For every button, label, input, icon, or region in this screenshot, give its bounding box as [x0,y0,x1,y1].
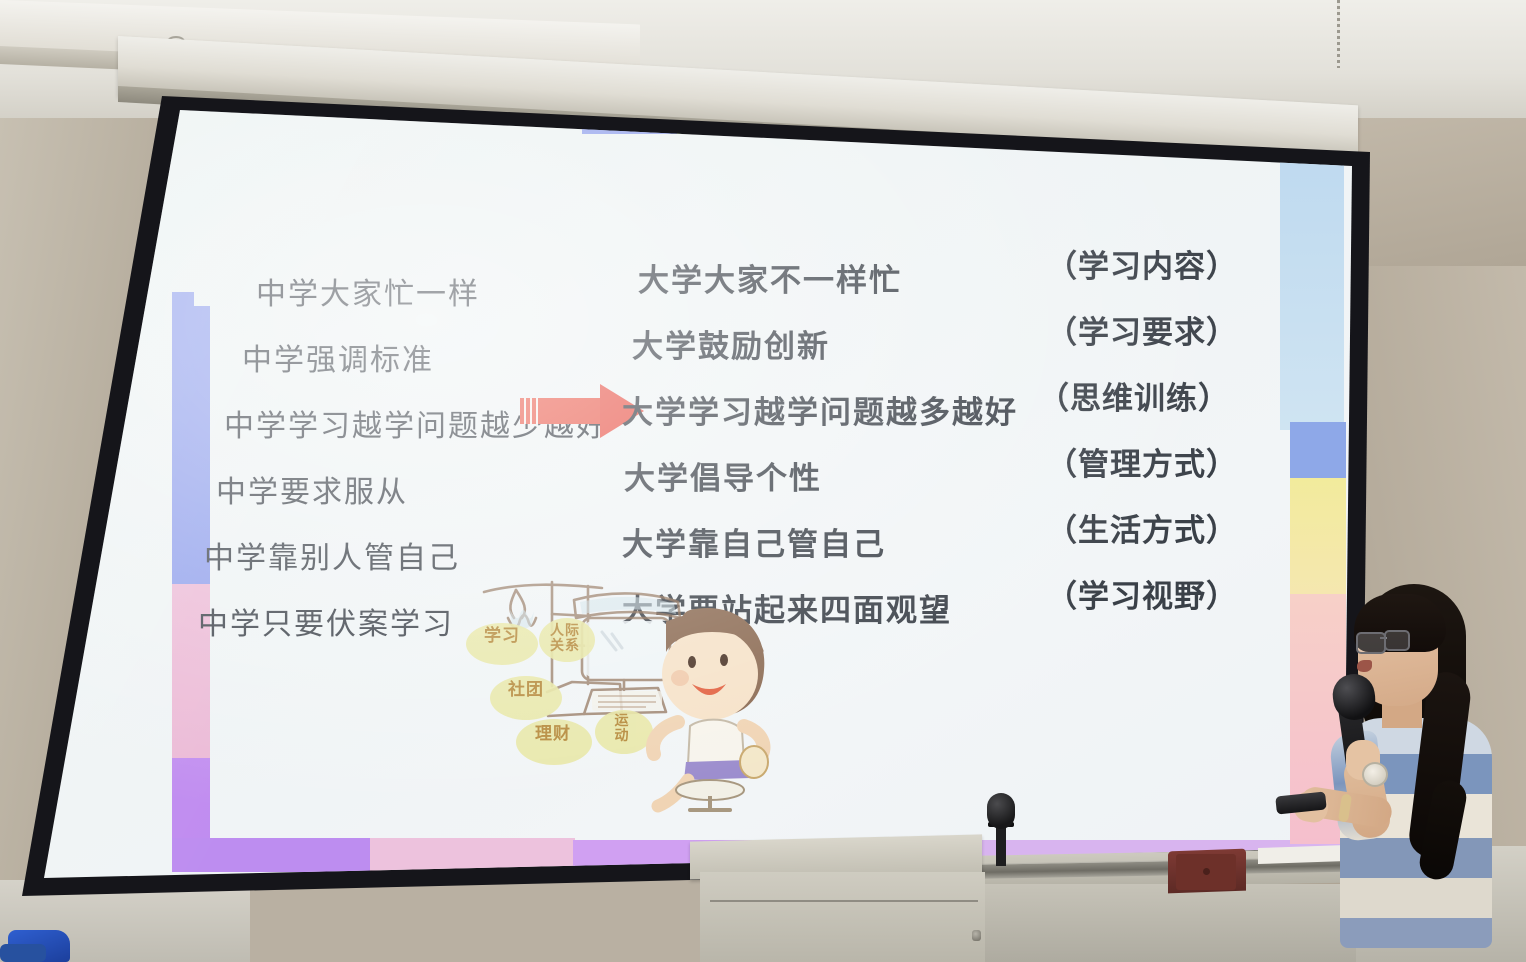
category-line-1: （学习内容） [1046,241,1238,286]
list-item: （生活方式） [1032,494,1282,560]
university-line-4: 大学倡导个性 [624,453,822,498]
slide-column-categories: （学习内容） （学习要求） （思维训练） （管理方式） （生活方式） （学习视野… [1032,230,1282,626]
university-line-5: 大学靠自己管自己 [622,519,886,564]
classroom-scene: 中学大家忙一样 中学强调标准 中学学习越学问题越少越好 中学要求服从 中学靠别人… [0,0,1526,962]
university-line-3: 大学学习越学问题越多越好 [622,387,1018,432]
slide-canvas: 中学大家忙一样 中学强调标准 中学学习越学问题越少越好 中学要求服从 中学靠别人… [22,96,1370,896]
list-item: 大学学习越学问题越多越好 [622,376,1042,442]
screen-chain-right [1337,0,1340,68]
list-item: （管理方式） [1032,428,1282,494]
middle-school-line-5: 中学靠别人管自己 [204,533,460,577]
list-item: （学习要求） [1032,296,1282,362]
arrow-stripe [536,398,538,424]
glasses-lens-right-icon [1384,630,1410,651]
bubble-label-sports: 运 动 [602,714,642,743]
category-line-4: （管理方式） [1046,439,1238,484]
category-line-5: （生活方式） [1046,505,1238,550]
decor-band-bottom-purple-a [172,838,372,872]
arrow-stripe [530,398,532,424]
bubble-label-clubs: 社团 [500,682,552,700]
slide-illustration: 学习 人际 关系 社团 理财 运 动 [452,566,782,816]
podium-lock-icon [972,930,981,941]
arrow-stripe [524,398,526,424]
podium-body [700,872,985,962]
list-item: 大学鼓励创新 [622,310,1042,376]
podium-drawer-seam [710,900,978,902]
decor-band-right-indigo [1290,422,1346,482]
list-item: 中学强调标准 [198,324,618,390]
list-item: 大学倡导个性 [622,442,1042,508]
glasses-lens-left-icon [1356,632,1386,654]
list-item: 中学要求服从 [198,456,618,522]
list-item: 中学大家忙一样 [198,258,618,324]
list-item: （思维训练） [1032,362,1282,428]
category-line-6: （学习视野） [1046,571,1238,616]
middle-school-line-2: 中学强调标准 [242,335,434,379]
bubble-label-finance: 理财 [526,726,580,744]
middle-school-line-1: 中学大家忙一样 [256,269,480,313]
blue-object-lower [0,944,46,962]
wristwatch-icon [1362,762,1388,787]
bubble-label-relationships: 人际 关系 [544,624,586,653]
arrow-tail [520,398,606,424]
desk-microphone-icon [987,793,1015,829]
list-item: 大学大家不一样忙 [622,244,1042,310]
chair-screw [1203,868,1210,875]
list-item: （学习视野） [1032,560,1282,626]
university-line-1: 大学大家不一样忙 [638,255,902,300]
list-item: （学习内容） [1032,230,1282,296]
presenter [1300,580,1526,962]
middle-school-line-6: 中学只要伏案学习 [198,599,454,643]
university-line-2: 大学鼓励创新 [632,321,830,366]
category-line-2: （学习要求） [1046,307,1238,352]
projection-screen[interactable]: 中学大家忙一样 中学强调标准 中学学习越学问题越少越好 中学要求服从 中学靠别人… [22,96,1370,896]
list-item: 大学靠自己管自己 [622,508,1042,574]
bubble-label-study: 学习 [476,628,528,646]
middle-school-line-4: 中学要求服从 [216,467,408,511]
category-line-3: （思维训练） [1038,373,1230,418]
presenter-mouth [1357,660,1372,672]
